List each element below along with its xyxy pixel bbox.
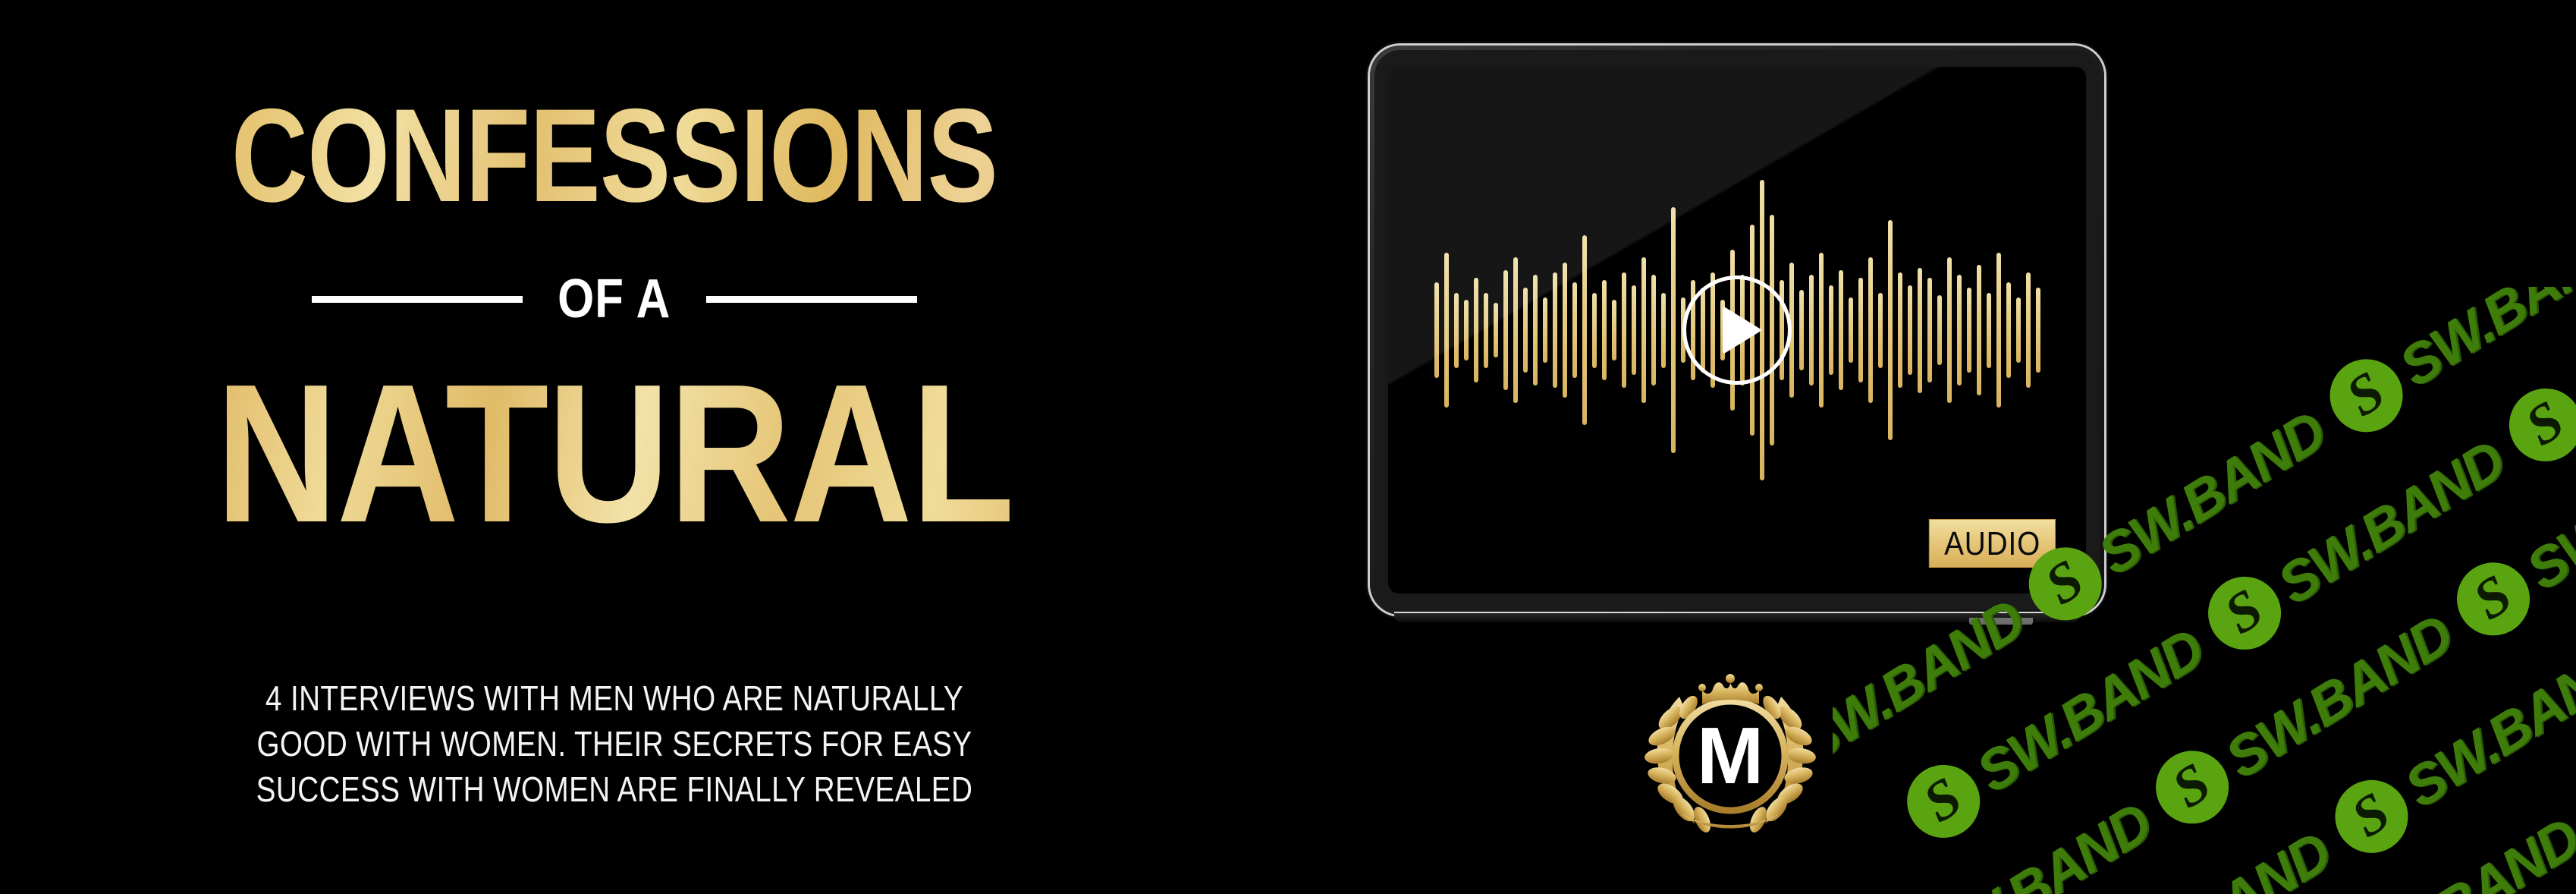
waveform-bar xyxy=(1513,257,1518,402)
subtitle-text: 4 INTERVIEWS WITH MEN WHO ARE NATURALLY … xyxy=(99,675,1131,812)
headline-line-of-a: OF A xyxy=(536,272,693,326)
waveform-bar xyxy=(1602,280,1607,380)
waveform-bar xyxy=(1582,235,1587,426)
play-button[interactable] xyxy=(1682,275,1792,385)
waveform-bar xyxy=(1563,263,1567,398)
waveform-bar xyxy=(1987,293,1991,368)
watermark-text: SW.BAND xyxy=(2266,427,2515,616)
waveform-bar xyxy=(1898,272,1902,388)
watermark-text: SW.BAND xyxy=(2515,413,2576,602)
watermark-unit: SW.BAND xyxy=(2570,613,2576,853)
waveform-bar xyxy=(1444,253,1449,408)
waveform-bar xyxy=(1937,295,1942,365)
watermark-text: SW.BAND xyxy=(1965,615,2214,804)
waveform-bar xyxy=(1868,257,1873,402)
watermark-s-icon xyxy=(2570,752,2576,852)
waveform-bar xyxy=(1533,275,1538,385)
waveform-bar xyxy=(1484,293,1488,368)
waveform-bar xyxy=(1612,300,1616,360)
waveform-bar xyxy=(1494,303,1498,358)
watermark-s-icon xyxy=(1893,751,1993,852)
divider-rule-right xyxy=(706,296,917,303)
watermark-unit: SW.BAND xyxy=(2321,627,2576,867)
waveform-bar xyxy=(1632,285,1636,376)
waveform-bar xyxy=(1671,207,1676,452)
headline-line-of-a-row: OF A xyxy=(0,272,1229,326)
waveform-bar xyxy=(1888,220,1893,440)
watermark-text: SW.BAND xyxy=(2567,287,2576,428)
waveform-bar xyxy=(1858,278,1863,383)
waveform-bar xyxy=(1819,253,1824,408)
headline-line-natural: NATURAL xyxy=(86,355,1142,552)
waveform-bar xyxy=(2036,288,2040,373)
waveform-bar xyxy=(2026,272,2031,388)
waveform-bar xyxy=(1464,300,1469,360)
waveform-bar xyxy=(1927,278,1932,383)
waveform-bar xyxy=(1957,275,1962,385)
watermark-unit: SW.BAND xyxy=(2142,598,2465,838)
waveform-bar xyxy=(1434,282,1439,377)
watermark-unit: SW.BAND xyxy=(2020,815,2343,894)
waveform-bar xyxy=(1454,293,1459,368)
waveform-bar xyxy=(1661,293,1666,368)
audio-badge: AUDIO xyxy=(1928,519,2056,568)
watermark-unit: SW.BAND xyxy=(2194,423,2518,663)
tablet-device: AUDIO xyxy=(1370,46,2104,615)
waveform-bar xyxy=(1829,285,1833,376)
waveform-bar xyxy=(1839,270,1843,390)
waveform-bar xyxy=(2016,297,2021,363)
watermark-text: SW.BAND xyxy=(2214,601,2463,790)
waveform-bar xyxy=(1878,293,1883,368)
watermark-text: SW.BAND xyxy=(2087,398,2336,587)
watermark-unit: SW.BAND xyxy=(2443,410,2576,650)
waveform-bar xyxy=(2006,282,2011,377)
waveform-bar xyxy=(1799,290,1804,370)
waveform-bar xyxy=(1908,285,1912,376)
watermark-s-icon xyxy=(2316,345,2416,445)
tablet-port-notch xyxy=(1969,618,2033,625)
watermark-s-icon xyxy=(2321,767,2421,867)
watermark-text: SW.BAND xyxy=(1913,789,2162,894)
headline-column: CONFESSIONS OF A NATURAL 4 INTERVIEWS WI… xyxy=(0,0,1229,894)
waveform-bar xyxy=(1592,293,1597,368)
watermark-text: SW.BAND xyxy=(2092,819,2341,894)
waveform-bar xyxy=(1967,288,1971,373)
waveform-bar xyxy=(1474,278,1478,383)
waveform-bar xyxy=(1977,265,1981,395)
logo-letter: M xyxy=(1697,711,1764,801)
waveform-bar xyxy=(1572,282,1577,377)
watermark-row: SW.BANDSW.BANDSW.BAND xyxy=(1968,580,2576,894)
waveform-bar xyxy=(1947,257,1952,402)
headline-line-confessions: CONFESSIONS xyxy=(123,90,1106,222)
watermark-s-icon xyxy=(2194,563,2295,663)
watermark-s-icon xyxy=(2142,737,2242,837)
waveform-bar xyxy=(1503,270,1508,390)
waveform-bar xyxy=(1641,257,1646,402)
watermark-text: SW.BAND xyxy=(2341,804,2576,894)
tablet-base xyxy=(1394,612,2080,622)
watermark-text: SW.BAND xyxy=(2388,287,2576,399)
waveform-bar xyxy=(1849,297,1853,363)
watermark-s-icon xyxy=(2496,375,2576,475)
promo-banner: CONFESSIONS OF A NATURAL 4 INTERVIEWS WI… xyxy=(0,0,2576,894)
waveform-bar xyxy=(1622,272,1626,388)
tablet-screen: AUDIO xyxy=(1388,67,2086,593)
watermark-unit: SW.BAND xyxy=(1841,786,2164,894)
waveform-bar xyxy=(1523,288,1528,373)
brand-logo: M xyxy=(1637,657,1824,836)
waveform-bar xyxy=(1543,297,1547,363)
watermark-unit: SW.BAND xyxy=(1893,612,2216,852)
waveform-bar xyxy=(1651,275,1656,385)
watermark-text: SW.BAND xyxy=(2393,631,2576,820)
watermark-s-icon xyxy=(2443,549,2543,649)
divider-rule-left xyxy=(312,296,523,303)
crown-icon xyxy=(1698,674,1763,704)
waveform-bar xyxy=(1996,253,2001,408)
watermark-unit: SW.BAND xyxy=(2269,801,2576,894)
waveform-bar xyxy=(1809,275,1814,385)
waveform-bar xyxy=(1553,272,1557,388)
watermark-unit: SW.BAND xyxy=(2496,287,2576,475)
waveform-bar xyxy=(1918,268,1922,393)
play-icon xyxy=(1723,306,1762,354)
watermark-unit: SW.BAND xyxy=(2316,287,2576,445)
